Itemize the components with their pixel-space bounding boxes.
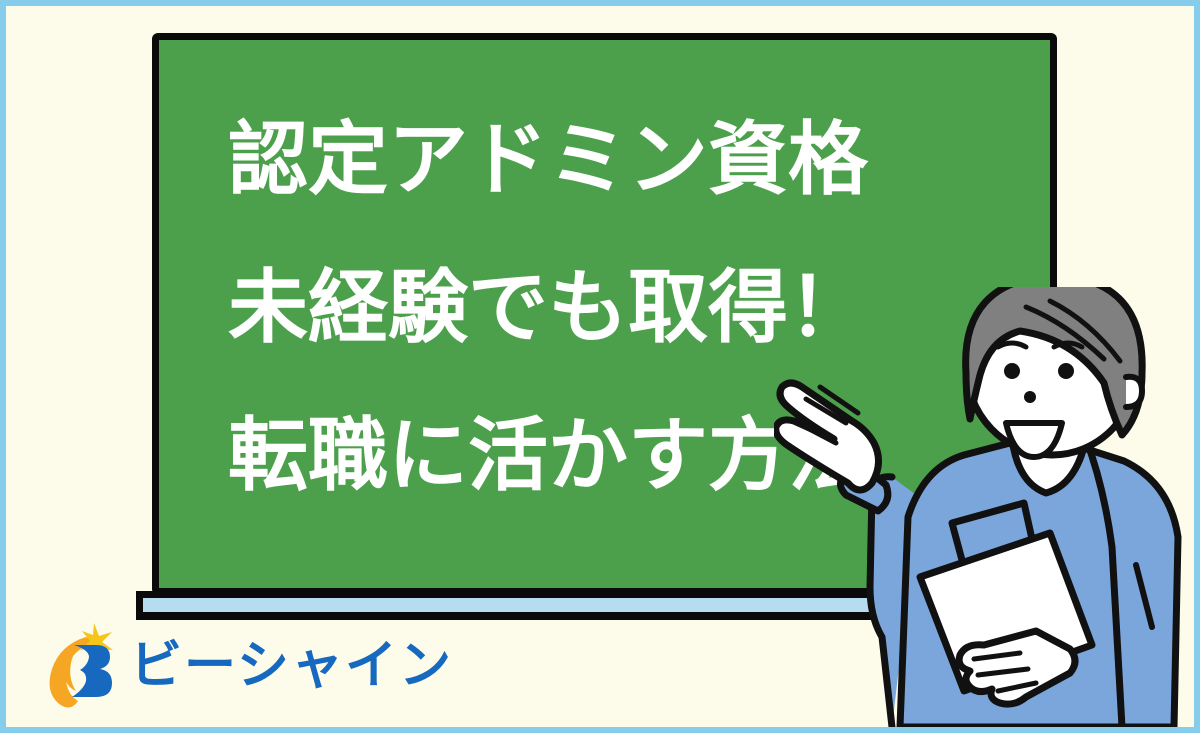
- banner-canvas: 認定アドミン資格 未経験でも取得！ 転職に活かす方法: [0, 0, 1200, 733]
- bshine-logo-text: ビーシャイン: [130, 640, 453, 692]
- female-presenter-illustration: [774, 287, 1194, 727]
- bshine-logo-mark: [44, 623, 118, 709]
- headline-line-1: 認定アドミン資格: [228, 86, 988, 234]
- bshine-logo[interactable]: ビーシャイン: [44, 623, 453, 709]
